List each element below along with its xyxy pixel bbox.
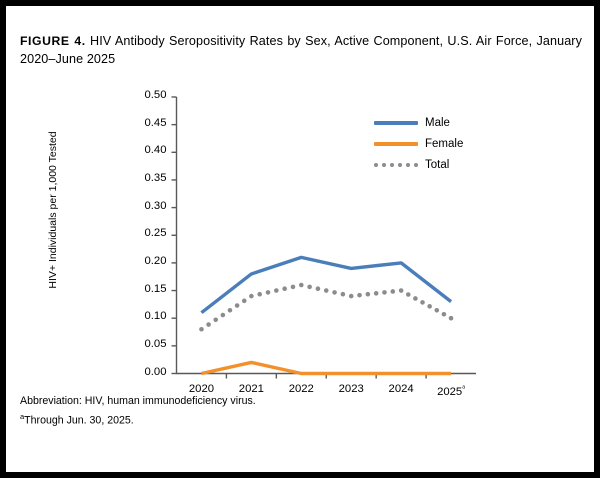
y-axis-ticks	[172, 97, 177, 374]
data-series-layer	[199, 257, 453, 373]
footnote-through-date-text: Through Jun. 30, 2025.	[24, 415, 134, 427]
legend-item-total: Total	[374, 154, 463, 175]
y-tick-label: 0.10	[121, 310, 167, 322]
figure-title-text: HIV Antibody Seropositivity Rates by Sex…	[20, 34, 582, 66]
y-tick-label: 0.45	[121, 117, 167, 129]
legend-item-female: Female	[374, 133, 463, 154]
figure-card: FIGURE 4. HIV Antibody Seropositivity Ra…	[6, 6, 594, 472]
legend-swatch-total	[374, 163, 418, 167]
chart-legend: Male Female Total	[374, 112, 463, 175]
footnote-through-date: aThrough Jun. 30, 2025.	[20, 409, 540, 429]
y-tick-label: 0.15	[121, 283, 167, 295]
y-tick-label: 0.40	[121, 144, 167, 156]
figure-title: FIGURE 4. HIV Antibody Seropositivity Ra…	[20, 32, 582, 68]
chart-plot-area: HIV+ Individuals per 1,000 Tested 0.000.…	[6, 86, 594, 392]
legend-swatch-male	[374, 121, 418, 125]
figure-footnotes: Abbreviation: HIV, human immunodeficienc…	[20, 394, 540, 429]
legend-swatch-female	[374, 142, 418, 146]
chart-canvas	[6, 86, 594, 392]
footnote-abbreviation: Abbreviation: HIV, human immunodeficienc…	[20, 394, 540, 409]
y-tick-label: 0.35	[121, 172, 167, 184]
figure-number: FIGURE 4.	[20, 34, 86, 48]
legend-label-female: Female	[425, 138, 463, 150]
y-tick-label: 0.20	[121, 255, 167, 267]
legend-item-male: Male	[374, 112, 463, 133]
legend-label-total: Total	[425, 159, 449, 171]
y-tick-label: 0.30	[121, 200, 167, 212]
y-tick-label: 0.00	[121, 366, 167, 378]
y-tick-label: 0.50	[121, 89, 167, 101]
legend-label-male: Male	[425, 117, 450, 129]
series-female	[201, 362, 451, 373]
y-tick-label: 0.25	[121, 227, 167, 239]
series-total	[199, 283, 453, 332]
y-tick-label: 0.05	[121, 338, 167, 350]
